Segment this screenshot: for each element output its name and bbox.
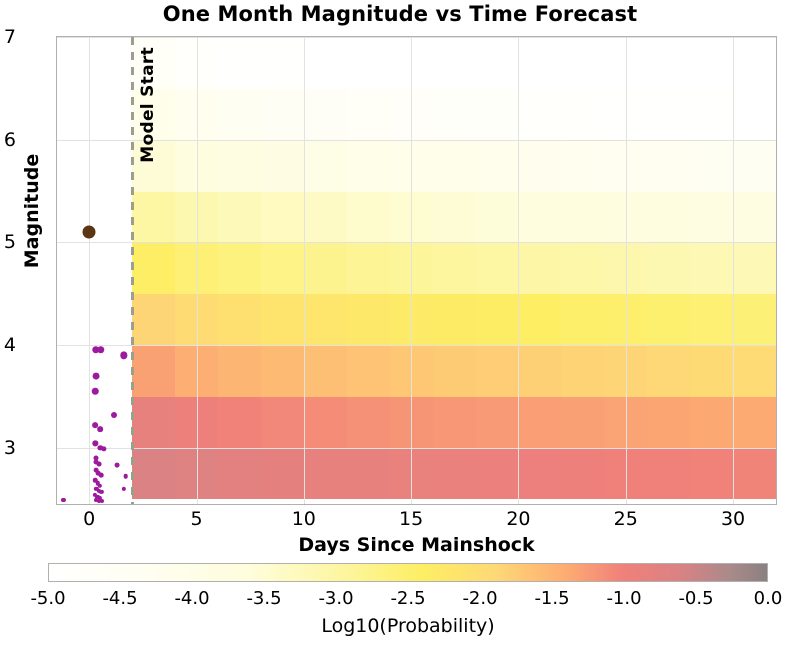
colorbar-tick-label: -2.5 bbox=[373, 588, 443, 609]
aftershock-point bbox=[115, 463, 120, 468]
aftershock-point bbox=[92, 372, 99, 379]
y-tick-label: 7 bbox=[0, 26, 16, 48]
aftershock-point bbox=[98, 483, 102, 487]
colorbar bbox=[48, 563, 768, 582]
colorbar-tick-label: -1.0 bbox=[589, 588, 659, 609]
aftershock-point bbox=[100, 499, 104, 503]
x-tick-label: 5 bbox=[167, 508, 227, 530]
colorbar-tick-label: -5.0 bbox=[13, 588, 83, 609]
aftershock-point bbox=[97, 462, 102, 467]
aftershock-point bbox=[101, 446, 106, 451]
aftershock-point bbox=[123, 474, 128, 479]
x-tick-label: 25 bbox=[596, 508, 656, 530]
aftershock-point bbox=[111, 412, 117, 418]
x-tick-label: 0 bbox=[59, 508, 119, 530]
aftershock-point bbox=[120, 352, 127, 359]
colorbar-tick-label: -1.5 bbox=[517, 588, 587, 609]
colorbar-tick-label: -2.0 bbox=[445, 588, 515, 609]
aftershock-point bbox=[99, 473, 104, 478]
x-tick-label: 15 bbox=[381, 508, 441, 530]
aftershock-point bbox=[92, 388, 99, 395]
y-tick-label: 3 bbox=[0, 437, 16, 459]
x-axis-label: Days Since Mainshock bbox=[56, 534, 777, 556]
y-tick-label: 4 bbox=[0, 334, 16, 356]
y-tick-label: 5 bbox=[0, 231, 16, 253]
chart-root: One Month Magnitude vs Time Forecast Mod… bbox=[0, 0, 800, 650]
x-tick-label: 10 bbox=[274, 508, 334, 530]
y-tick-label: 6 bbox=[0, 129, 16, 151]
colorbar-tick-label: -4.0 bbox=[157, 588, 227, 609]
mainshock-point bbox=[83, 226, 96, 239]
colorbar-label: Log10(Probability) bbox=[48, 615, 768, 637]
colorbar-tick-label: -3.0 bbox=[301, 588, 371, 609]
aftershock-point bbox=[97, 426, 103, 432]
x-tick-label: 30 bbox=[703, 508, 763, 530]
y-axis-label: Magnitude bbox=[21, 111, 43, 311]
colorbar-tick-label: -3.5 bbox=[229, 588, 299, 609]
aftershock-point bbox=[99, 490, 103, 494]
colorbar-tick-label: -0.5 bbox=[661, 588, 731, 609]
aftershock-point bbox=[97, 346, 104, 353]
colorbar-tick-label: 0.0 bbox=[733, 588, 800, 609]
aftershock-point bbox=[61, 498, 65, 502]
page-title: One Month Magnitude vs Time Forecast bbox=[0, 2, 800, 26]
colorbar-tick-label: -4.5 bbox=[85, 588, 155, 609]
plot-area: Model Start bbox=[56, 36, 777, 505]
x-tick-label: 20 bbox=[488, 508, 548, 530]
scatter-layer bbox=[57, 37, 776, 504]
colorbar-gradient bbox=[49, 564, 767, 581]
aftershock-point bbox=[122, 486, 126, 490]
